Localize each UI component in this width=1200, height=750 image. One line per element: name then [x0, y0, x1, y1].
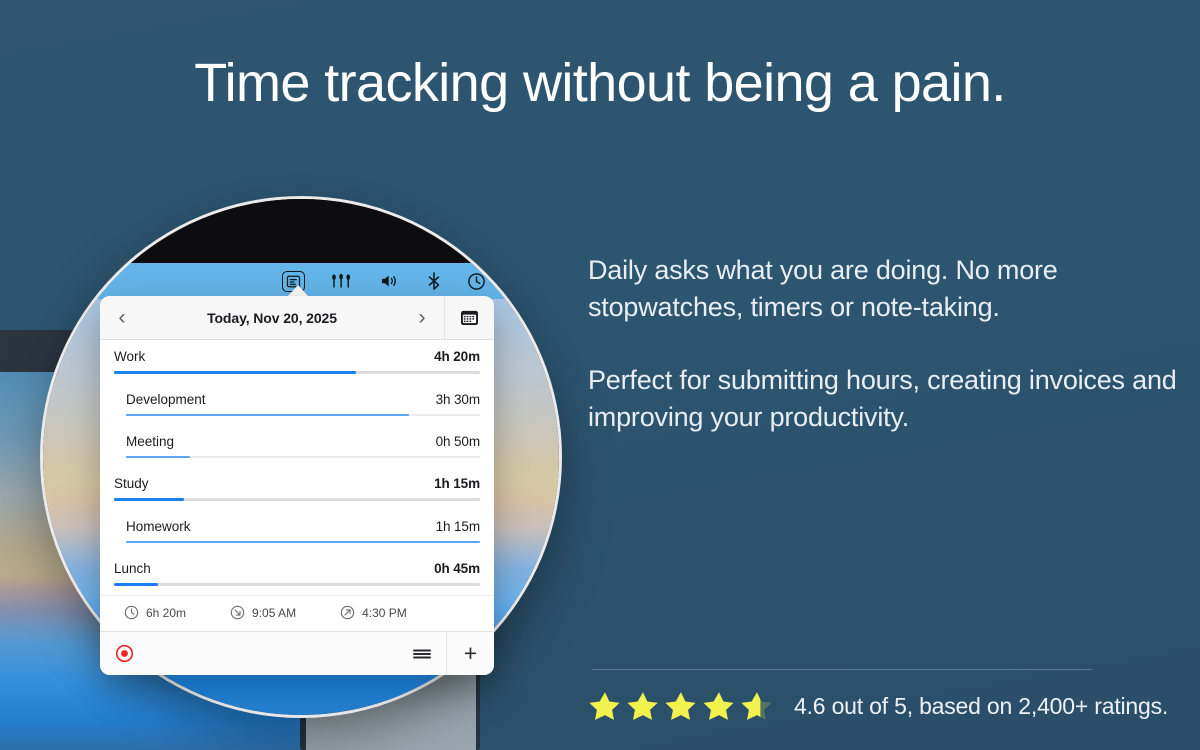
activity-progress-track: [126, 456, 480, 458]
activity-row[interactable]: Lunch0h 45m: [100, 552, 494, 595]
summary-stat: 6h 20m: [124, 605, 186, 620]
summary-stats: 6h 20m9:05 AM4:30 PM: [100, 595, 494, 631]
rating-divider: [592, 669, 1092, 670]
volume-icon[interactable]: [379, 273, 401, 289]
activity-progress-fill: [126, 456, 190, 458]
star-icon: [626, 690, 660, 723]
bluetooth-icon[interactable]: [427, 272, 441, 290]
activity-duration: 3h 30m: [436, 392, 480, 407]
activity-progress-fill: [114, 583, 158, 586]
activity-label: Development: [126, 392, 206, 407]
daily-popover-panel: ‹ Today, Nov 20, 2025 › Work4h 20mDevelo…: [100, 296, 494, 675]
activity-label: Homework: [126, 519, 191, 534]
star-icon: [588, 690, 622, 723]
current-date-label: Today, Nov 20, 2025: [144, 310, 400, 326]
summary-stat: 4:30 PM: [340, 605, 407, 620]
copy-paragraph-1: Daily asks what you are doing. No more s…: [588, 252, 1178, 326]
copy-paragraph-2: Perfect for submitting hours, creating i…: [588, 362, 1178, 436]
panel-footer: +: [100, 631, 494, 675]
marketing-copy: Daily asks what you are doing. No more s…: [588, 252, 1178, 436]
activity-duration: 1h 15m: [434, 476, 480, 491]
activity-progress-track: [114, 583, 480, 586]
activity-progress-fill: [126, 414, 409, 416]
rating-block: 4.6 out of 5, based on 2,400+ ratings.: [588, 690, 1168, 723]
activity-row[interactable]: Meeting0h 50m: [100, 425, 494, 467]
overflow-icon[interactable]: [512, 274, 530, 288]
activity-label: Lunch: [114, 561, 151, 576]
activity-progress-fill: [114, 371, 356, 374]
activity-label: Meeting: [126, 434, 174, 449]
next-day-button[interactable]: ›: [400, 296, 444, 340]
activity-label: Study: [114, 476, 149, 491]
summary-stat-value: 6h 20m: [146, 606, 186, 620]
star-icon: [702, 690, 736, 723]
prev-day-button[interactable]: ‹: [100, 296, 144, 340]
summary-stat-value: 4:30 PM: [362, 606, 407, 620]
airpods-icon[interactable]: [331, 273, 353, 289]
activity-duration: 1h 15m: [436, 519, 480, 534]
activity-progress-track: [126, 541, 480, 543]
activity-progress-track: [114, 498, 480, 501]
calendar-icon[interactable]: [444, 296, 494, 340]
star-icon: [740, 690, 774, 723]
panel-header: ‹ Today, Nov 20, 2025 ›: [100, 296, 494, 340]
hamburger-icon[interactable]: [398, 632, 446, 676]
activity-label: Work: [114, 349, 145, 364]
summary-stat-value: 9:05 AM: [252, 606, 296, 620]
rating-text: 4.6 out of 5, based on 2,400+ ratings.: [794, 693, 1168, 720]
star-rating: [588, 690, 774, 723]
activity-row[interactable]: Work4h 20m: [100, 340, 494, 383]
time-machine-icon[interactable]: [467, 272, 486, 291]
activity-list: Work4h 20mDevelopment3h 30mMeeting0h 50m…: [100, 340, 494, 595]
clock-icon: [124, 605, 139, 620]
arrow-out-icon: [340, 605, 355, 620]
activity-duration: 0h 50m: [436, 434, 480, 449]
activity-progress-fill: [114, 498, 184, 501]
activity-progress-track: [114, 371, 480, 374]
page-title: Time tracking without being a pain.: [0, 52, 1200, 114]
add-entry-button[interactable]: +: [446, 632, 494, 676]
star-icon: [664, 690, 698, 723]
activity-row[interactable]: Development3h 30m: [100, 383, 494, 425]
activity-row[interactable]: Study1h 15m: [100, 467, 494, 510]
activity-progress-track: [126, 414, 480, 416]
activity-duration: 0h 45m: [434, 561, 480, 576]
activity-duration: 4h 20m: [434, 349, 480, 364]
record-icon[interactable]: [100, 644, 148, 663]
summary-stat: 9:05 AM: [230, 605, 296, 620]
arrow-in-icon: [230, 605, 245, 620]
activity-row[interactable]: Homework1h 15m: [100, 510, 494, 552]
lens-screen-bezel: [43, 199, 559, 263]
activity-progress-fill: [126, 541, 480, 543]
